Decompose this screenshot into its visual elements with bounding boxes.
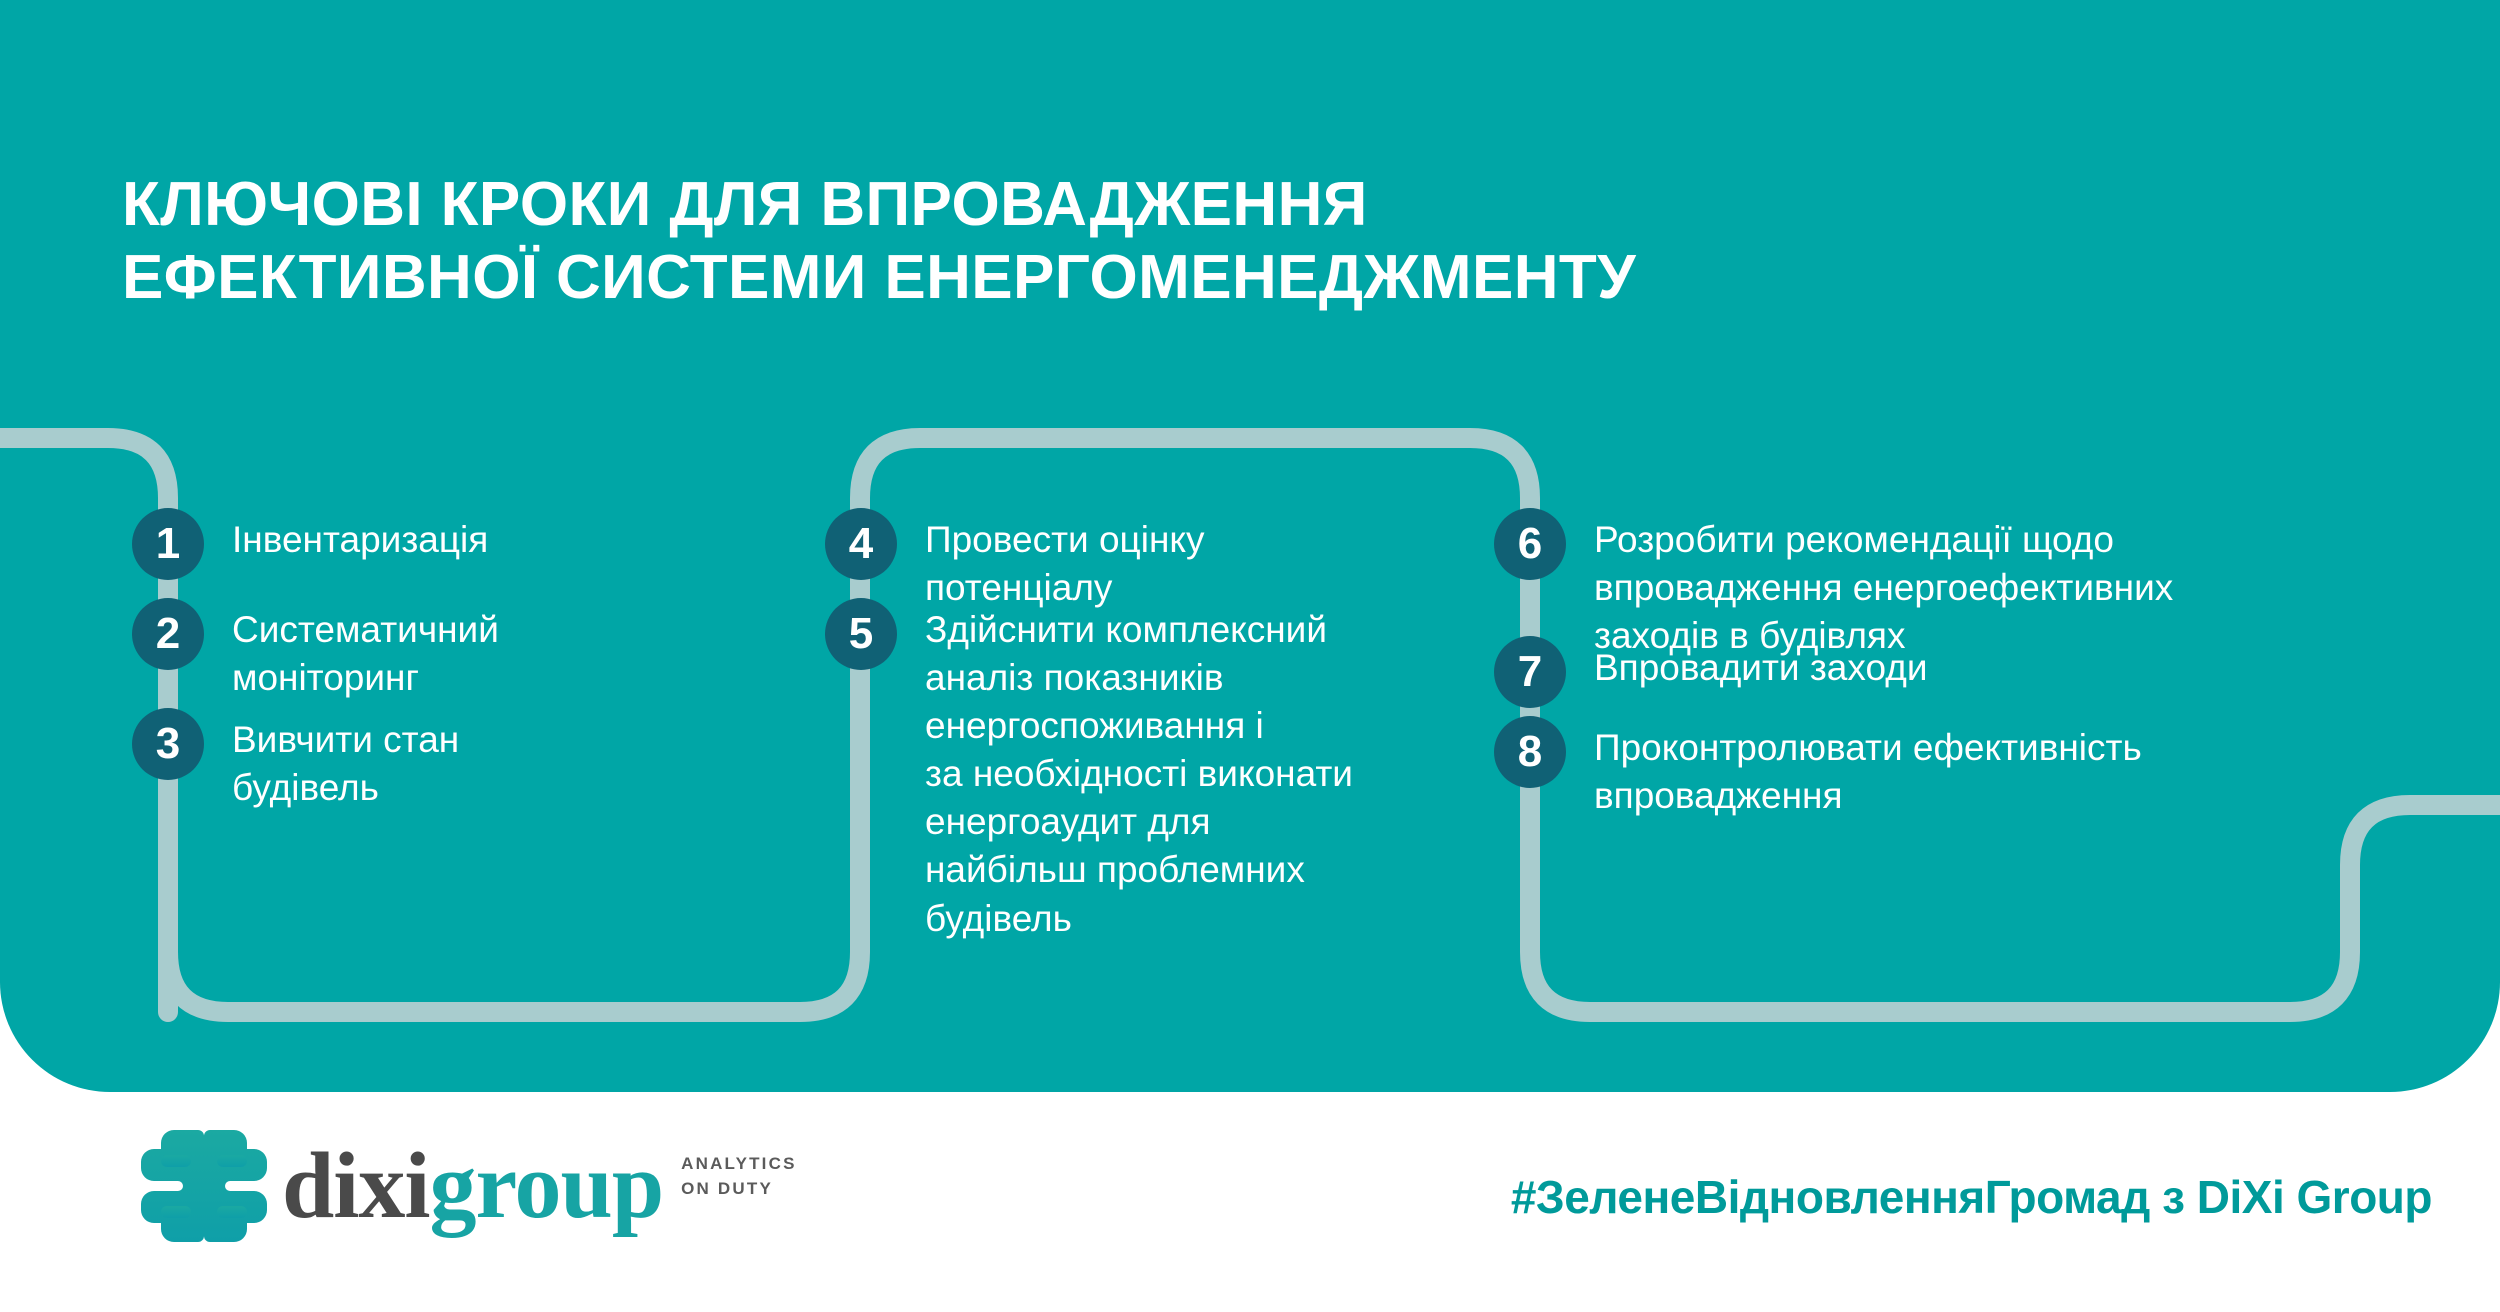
step-label: Здійснити комплексний аналіз показників … [925,606,1353,943]
step-number-badge: 3 [132,708,204,780]
step-label: Систематичний моніторинг [232,606,499,702]
step-label: Впровадити заходи [1594,644,1928,692]
brain-logo-icon [140,1122,268,1250]
step-item-3[interactable]: 3 Вивчити стан будівель [132,708,528,812]
logo-word-group: group [430,1139,664,1233]
step-item-7[interactable]: 7 Впровадити заходи [1494,636,1928,708]
step-item-5[interactable]: 5 Здійснити комплексний аналіз показникі… [825,598,1353,943]
step-item-8[interactable]: 8 Проконтролювати ефективність впровадже… [1494,716,2142,820]
logo-tagline: ANALYTICS ON DUTY [681,1152,797,1201]
step-item-4[interactable]: 4 Провести оцінку потенціалу [825,508,1205,612]
step-number-badge: 1 [132,508,204,580]
step-label: Інвентаризація [232,516,488,564]
step-number-badge: 4 [825,508,897,580]
footer-bar: dixi group ANALYTICS ON DUTY #ЗеленеВідн… [0,1092,2500,1312]
step-item-2[interactable]: 2 Систематичний моніторинг [132,598,499,702]
step-label: Проконтролювати ефективність впровадженн… [1594,724,2142,820]
step-number-badge: 7 [1494,636,1566,708]
step-label: Вивчити стан будівель [232,716,528,812]
step-number-badge: 2 [132,598,204,670]
dixi-group-logo[interactable]: dixi group ANALYTICS ON DUTY [140,1122,797,1250]
step-number-badge: 5 [825,598,897,670]
page-title: КЛЮЧОВІ КРОКИ ДЛЯ ВПРОВАДЖЕННЯ ЕФЕКТИВНО… [122,168,2322,314]
step-number-badge: 6 [1494,508,1566,580]
step-number-badge: 8 [1494,716,1566,788]
step-item-1[interactable]: 1 Інвентаризація [132,508,488,580]
logo-word-dixi: dixi [282,1139,430,1233]
logo-wordmark: dixi group [282,1139,663,1233]
campaign-hashtag: #ЗеленеВідновленняГромад з DiXi Group [1511,1170,2432,1224]
